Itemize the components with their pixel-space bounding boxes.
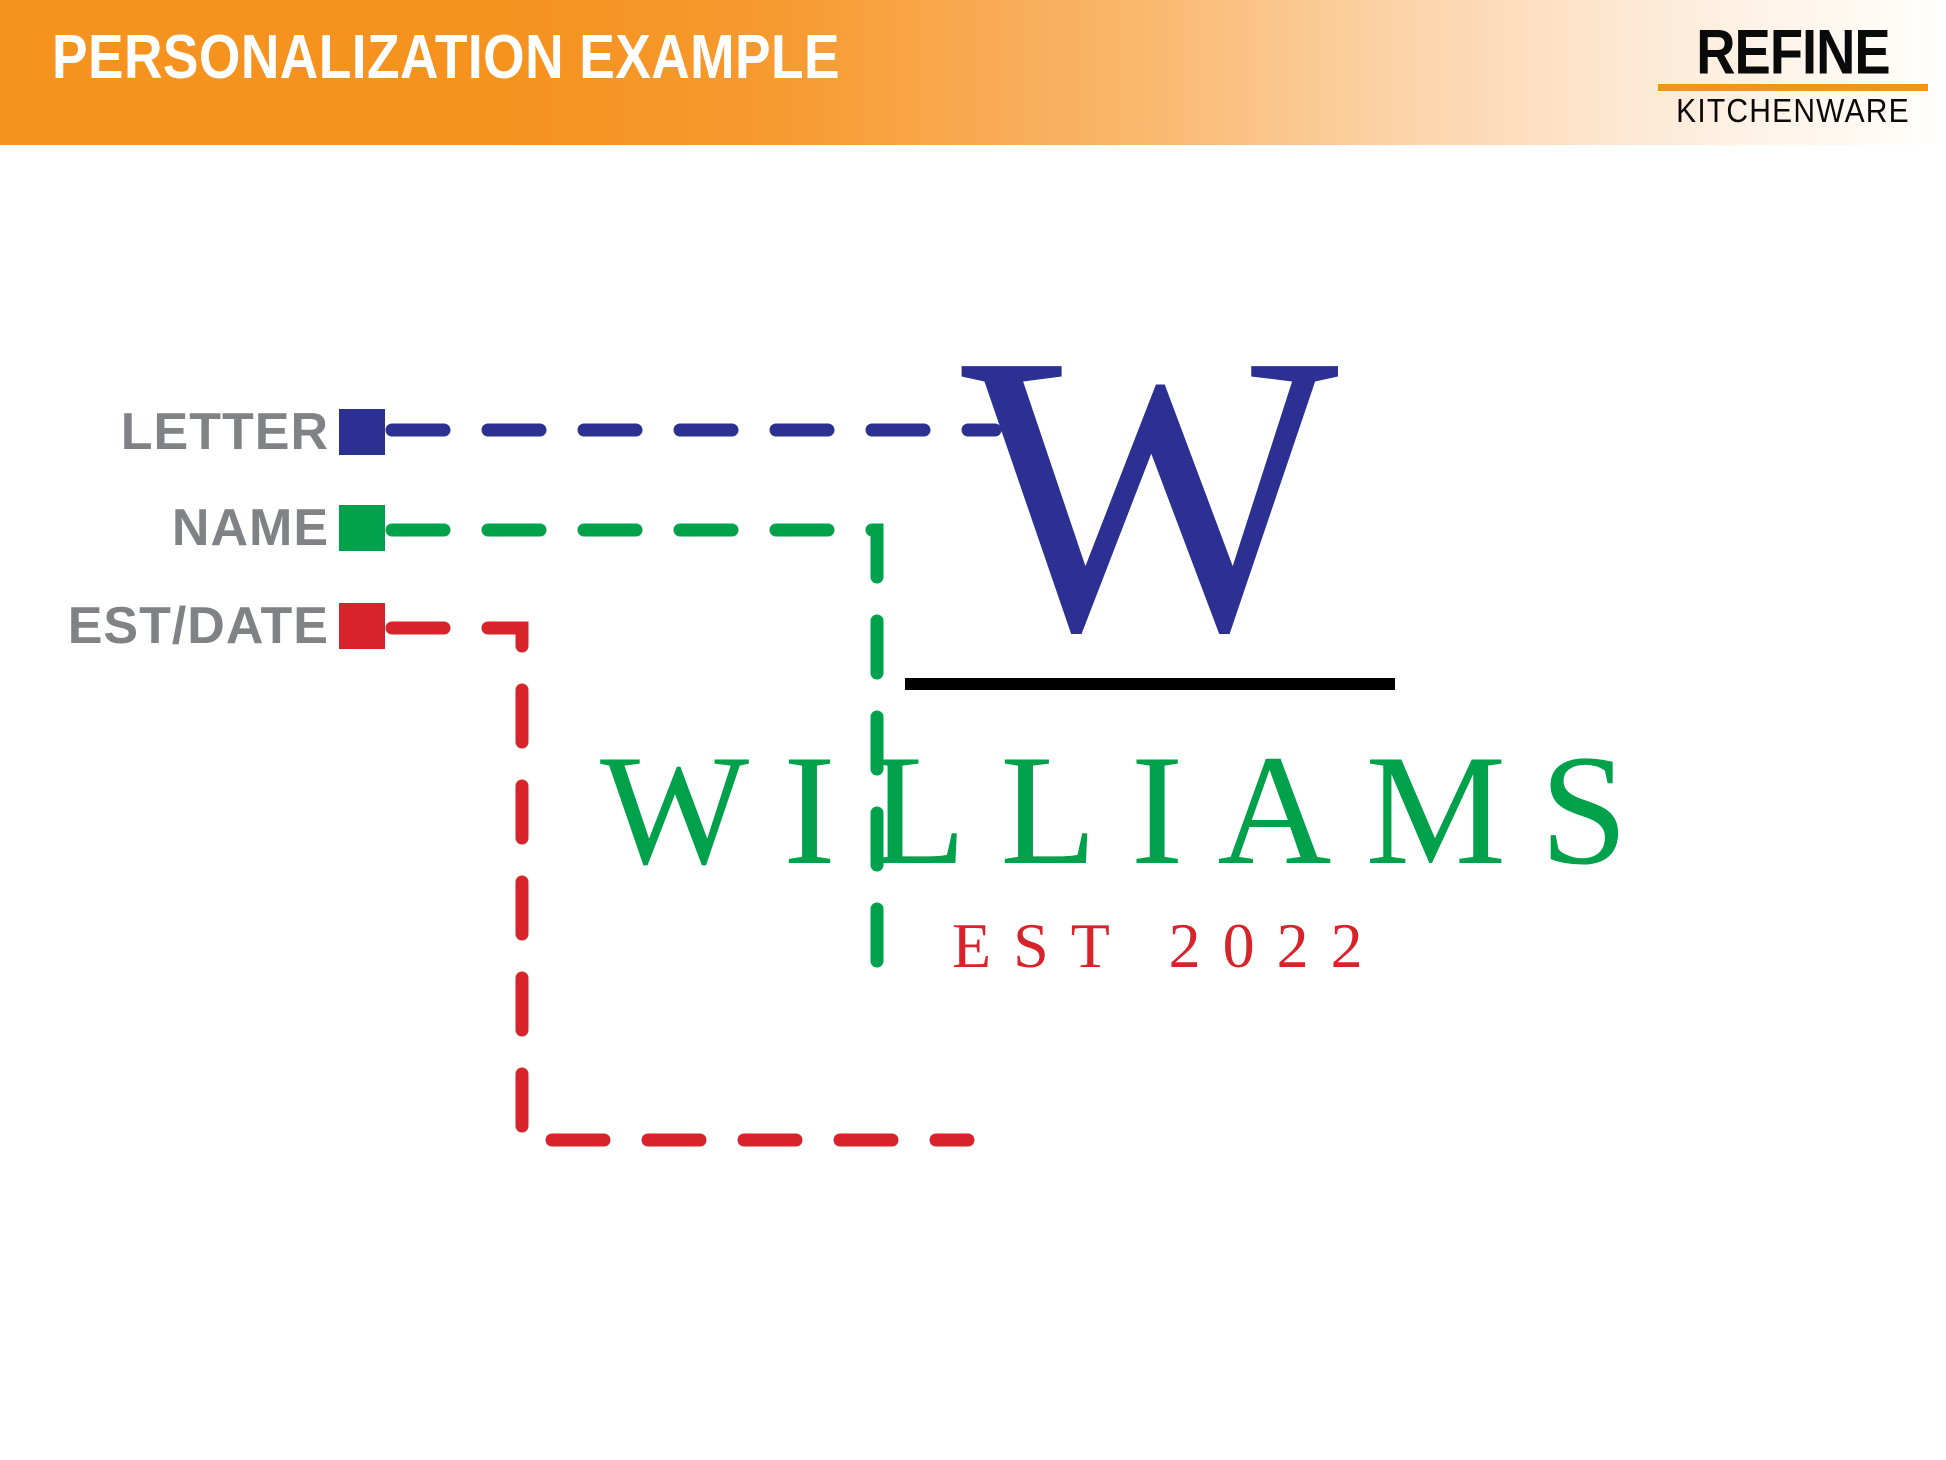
legend-item-name: NAME (45, 502, 385, 554)
legend-swatch-letter (339, 409, 385, 455)
slide-canvas: PERSONALIZATION EXAMPLE REFINE KITCHENWA… (0, 0, 1946, 1460)
legend-label-name: NAME (172, 502, 329, 554)
header-bar: PERSONALIZATION EXAMPLE (0, 0, 1946, 145)
monogram-artwork: W WILLIAMS EST 2022 (600, 330, 1900, 978)
brand-name: REFINE (1662, 22, 1924, 82)
legend-item-est-date: EST/DATE (45, 600, 385, 652)
brand-logo: REFINE KITCHENWARE (1658, 22, 1928, 125)
page-title: PERSONALIZATION EXAMPLE (52, 27, 840, 89)
legend-label-letter: LETTER (121, 406, 329, 458)
legend-swatch-name (339, 505, 385, 551)
legend-label-est-date: EST/DATE (68, 600, 329, 652)
legend-swatch-est-date (339, 603, 385, 649)
monogram-surname: WILLIAMS (600, 732, 1900, 890)
legend-item-letter: LETTER (45, 406, 385, 458)
monogram-established-year: EST 2022 (952, 914, 1900, 978)
brand-subtitle: KITCHENWARE (1658, 95, 1928, 129)
monogram-initial: W (800, 330, 1500, 658)
